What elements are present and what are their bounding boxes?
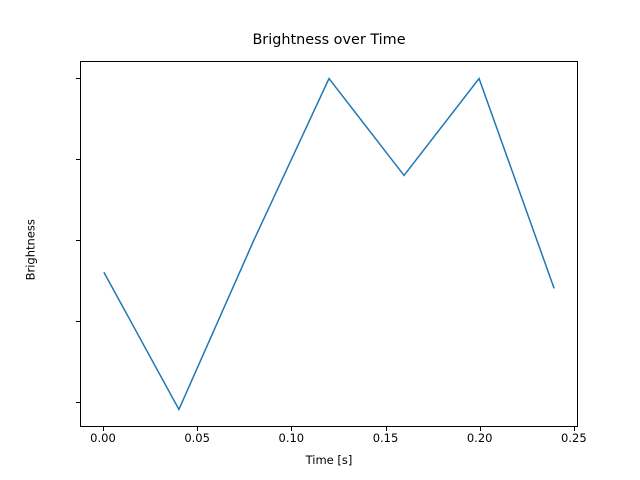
x-tick-label: 0.05 (184, 433, 210, 445)
brightness-line-series (104, 79, 554, 410)
y-axis-label: Brightness (25, 67, 37, 433)
x-tick-label: 0.20 (467, 433, 493, 445)
x-axis-label: Time [s] (80, 455, 578, 467)
x-tick-label: 0.15 (373, 433, 399, 445)
x-tick-label: 0.10 (279, 433, 305, 445)
matplotlib-figure: Brightness over Time Brightness Time [s]… (0, 0, 640, 480)
chart-title: Brightness over Time (80, 33, 578, 47)
plot-axes-area (80, 61, 578, 427)
x-tick-label: 0.25 (561, 433, 587, 445)
line-plot-svg (81, 62, 577, 426)
x-tick-label: 0.00 (90, 433, 116, 445)
